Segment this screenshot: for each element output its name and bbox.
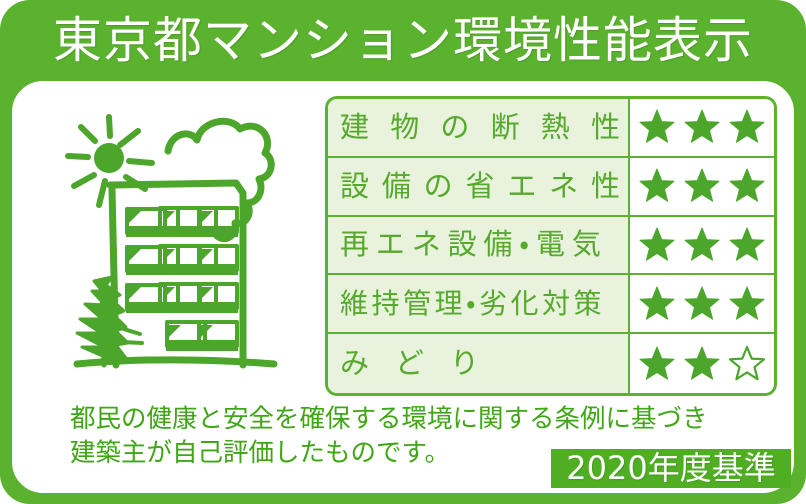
- rating-label: 建物の断熱性: [328, 99, 630, 156]
- disclaimer-note: 都民の健康と安全を確保する環境に関する条例に基づき 建築主が自己評価したものです…: [70, 403, 630, 470]
- rating-stars: [630, 334, 774, 393]
- rating-label: 設備の省エネ性: [328, 158, 630, 215]
- rating-stars: [630, 275, 774, 332]
- ratings-table: 建物の断熱性 設備の省エネ性 再エネ設備・電気 維持管理・劣化対策 みどり: [325, 96, 777, 396]
- star-filled-icon: [683, 167, 721, 205]
- content-panel: 建物の断熱性 設備の省エネ性 再エネ設備・電気 維持管理・劣化対策 みどり: [9, 78, 797, 496]
- table-row: 設備の省エネ性: [328, 158, 774, 217]
- rating-label: 再エネ設備・電気: [328, 217, 630, 274]
- standard-year-badge: 2020年度基準: [551, 449, 791, 488]
- star-outline-icon: [728, 345, 766, 383]
- star-filled-icon: [728, 285, 766, 323]
- rating-stars: [630, 158, 774, 215]
- eco-apartment-building-illustration: [44, 93, 334, 393]
- star-filled-icon: [728, 226, 766, 264]
- rating-stars: [630, 99, 774, 156]
- star-filled-icon: [728, 108, 766, 146]
- star-filled-icon: [683, 345, 721, 383]
- apartment-building-icon: [110, 183, 243, 365]
- rating-label: 維持管理・劣化対策: [328, 275, 630, 332]
- page-title: 東京都マンション環境性能表示: [53, 16, 753, 65]
- table-row: みどり: [328, 334, 774, 393]
- rating-label: みどり: [328, 334, 630, 393]
- environment-performance-label: 東京都マンション環境性能表示: [0, 0, 806, 504]
- star-filled-icon: [728, 167, 766, 205]
- header-band: 東京都マンション環境性能表示: [0, 0, 806, 80]
- rating-stars: [630, 217, 774, 274]
- disclaimer-line-2: 建築主が自己評価したものです。: [70, 437, 630, 471]
- star-filled-icon: [638, 167, 676, 205]
- table-row: 建物の断熱性: [328, 99, 774, 158]
- star-filled-icon: [638, 226, 676, 264]
- star-filled-icon: [683, 285, 721, 323]
- disclaimer-line-1: 都民の健康と安全を確保する環境に関する条例に基づき: [70, 403, 630, 437]
- star-filled-icon: [638, 285, 676, 323]
- star-filled-icon: [638, 108, 676, 146]
- table-row: 再エネ設備・電気: [328, 217, 774, 276]
- table-row: 維持管理・劣化対策: [328, 275, 774, 334]
- star-filled-icon: [683, 226, 721, 264]
- ground-line: [77, 360, 274, 364]
- star-filled-icon: [638, 345, 676, 383]
- star-filled-icon: [683, 108, 721, 146]
